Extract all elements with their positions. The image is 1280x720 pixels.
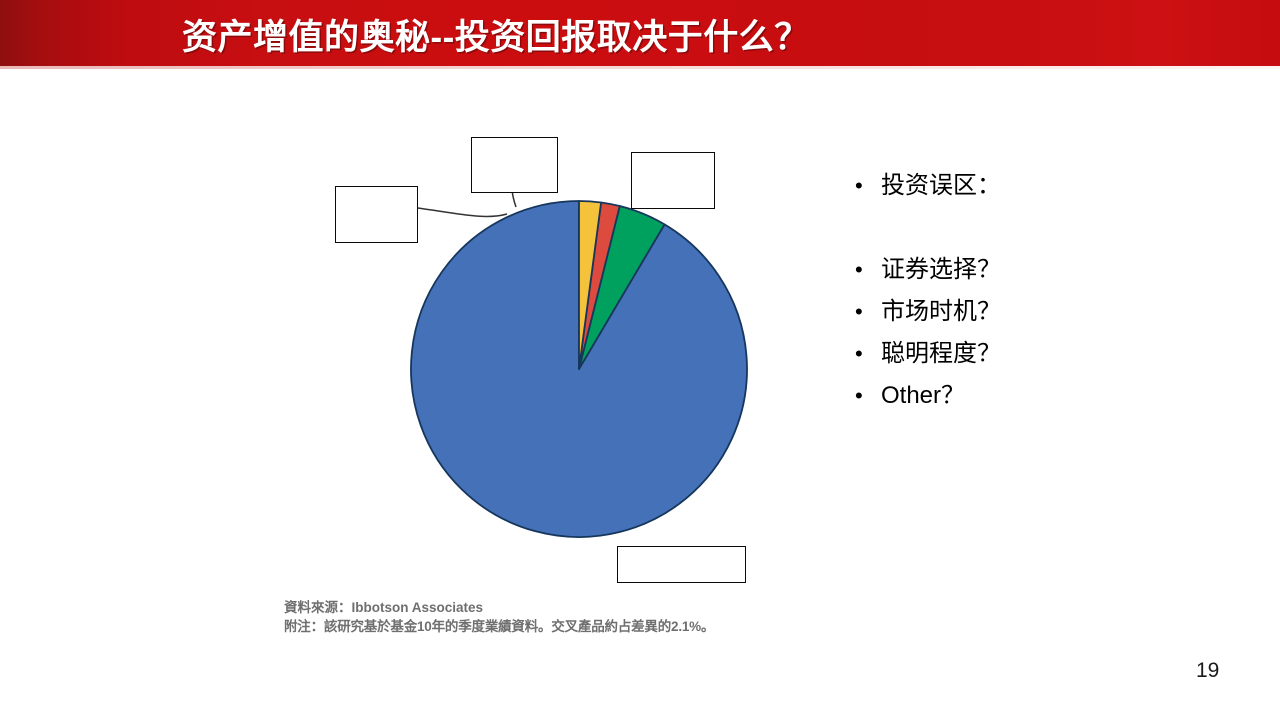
bullet-dot-icon: •	[855, 249, 881, 291]
bullet-item-1	[855, 207, 1235, 249]
bullet-item-2: • 证券选择？	[855, 249, 1235, 291]
bullet-label-0: 投资误区：	[881, 165, 1001, 207]
bullet-item-3: • 市场时机？	[855, 291, 1235, 333]
bullet-label-3: 市场时机？	[881, 291, 1001, 333]
page-title: 资产增值的奥秘--投资回报取决于什么？	[182, 9, 810, 60]
title-underline	[0, 66, 1280, 69]
callout-box-right[interactable]	[631, 152, 715, 209]
bullet-dot-icon: •	[855, 165, 881, 207]
bullet-item-5: • Other？	[855, 375, 1235, 417]
source-line-1: 資料來源：Ibbotson Associates	[284, 598, 804, 617]
bullet-label-2: 证券选择？	[881, 249, 1001, 291]
bullet-dot-icon: •	[855, 375, 881, 417]
bullet-dot-icon: •	[855, 333, 881, 375]
chart-source-note: 資料來源：Ibbotson Associates 附注：該研究基於基金10年的季…	[284, 598, 804, 636]
source-line-2: 附注：該研究基於基金10年的季度業績資料。交叉產品約占差異的2.1%。	[284, 617, 804, 636]
bullet-label-4: 聪明程度？	[881, 333, 1001, 375]
bullet-item-0: • 投资误区：	[855, 165, 1235, 207]
callout-box-bottom[interactable]	[617, 546, 746, 583]
bullet-dot-icon: •	[855, 291, 881, 333]
callout-box-top[interactable]	[471, 137, 558, 193]
callout-box-left[interactable]	[335, 186, 418, 243]
page-number: 19	[1196, 659, 1219, 683]
bullet-list: • 投资误区： • 证券选择？ • 市场时机？ • 聪明程度？ • Other？	[855, 165, 1235, 417]
leader-line-left	[418, 208, 507, 216]
bullet-item-4: • 聪明程度？	[855, 333, 1235, 375]
bullet-label-5: Other？	[881, 375, 965, 417]
